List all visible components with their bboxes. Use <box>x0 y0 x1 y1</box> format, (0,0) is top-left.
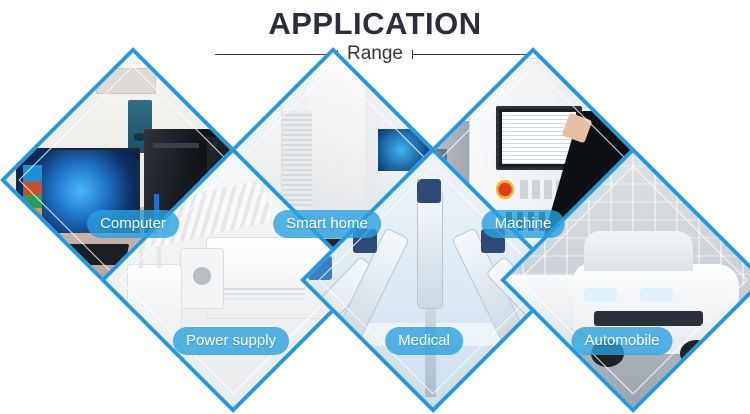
tile-label-automobile[interactable]: Automobile <box>571 327 672 355</box>
tile-label-machine[interactable]: Machine <box>482 210 565 238</box>
tile-label-computer[interactable]: Computer <box>87 210 179 238</box>
tile-label-medical[interactable]: Medical <box>385 327 463 355</box>
tile-label-power-supply[interactable]: Power supply <box>173 327 289 355</box>
tile-label-smart-home[interactable]: Smart home <box>273 210 381 238</box>
application-tiles: Computer Smart home Machine Power supply… <box>0 0 750 414</box>
application-range-banner: APPLICATION Range <box>0 0 750 414</box>
